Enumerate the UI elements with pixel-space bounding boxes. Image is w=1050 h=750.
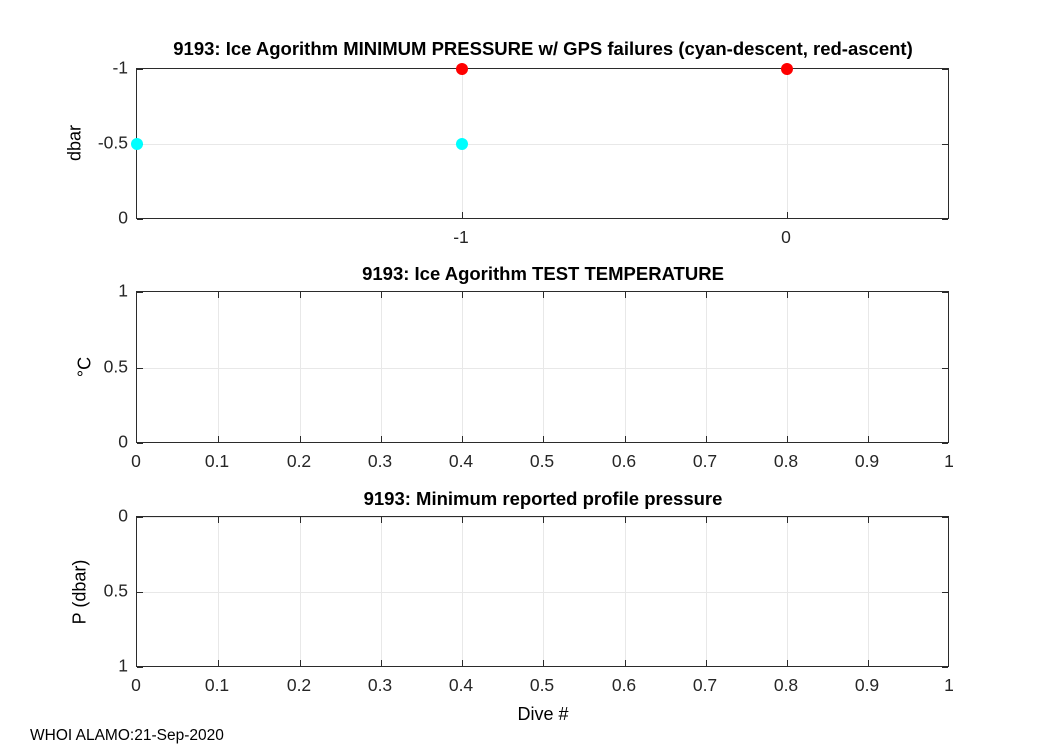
footer-note: WHOI ALAMO:21-Sep-2020 — [30, 727, 224, 745]
subplot-2-ytick-label: 0 — [93, 432, 128, 453]
x-tick-mark — [706, 436, 707, 442]
x-tick-mark — [218, 292, 219, 298]
x-tick-mark — [381, 517, 382, 523]
x-tick-mark — [787, 517, 788, 523]
figure-canvas: 9193: Ice Agorithm MINIMUM PRESSURE w/ G… — [0, 0, 1050, 750]
grid-line-horizontal — [137, 144, 948, 145]
grid-line-vertical — [868, 517, 869, 666]
grid-line-vertical — [543, 292, 544, 442]
figure-xlabel: Dive # — [517, 704, 568, 725]
subplot-2-xtick-label: 0.8 — [774, 451, 798, 472]
y-tick-mark — [137, 219, 143, 220]
y-tick-mark — [942, 144, 948, 145]
x-tick-mark — [787, 212, 788, 218]
x-tick-mark — [218, 436, 219, 442]
y-tick-mark — [137, 517, 143, 518]
x-tick-mark — [462, 517, 463, 523]
subplot-2-ytick-label: 0.5 — [93, 357, 128, 378]
subplot-2-xtick-label: 0 — [131, 451, 141, 472]
subplot-2-title: 9193: Ice Agorithm TEST TEMPERATURE — [362, 263, 724, 285]
x-tick-mark — [462, 212, 463, 218]
x-tick-mark — [706, 517, 707, 523]
x-tick-mark — [381, 436, 382, 442]
subplot-2-xtick-label: 0.1 — [205, 451, 229, 472]
grid-line-vertical — [706, 292, 707, 442]
subplot-3-plot-area — [136, 516, 949, 667]
y-tick-mark — [942, 592, 948, 593]
x-tick-mark — [787, 292, 788, 298]
x-tick-mark — [543, 517, 544, 523]
grid-line-vertical — [787, 69, 788, 218]
subplot-3-xtick-label: 0.7 — [693, 675, 717, 696]
x-tick-mark — [868, 517, 869, 523]
subplot-2-xtick-label: 0.5 — [530, 451, 554, 472]
y-tick-mark — [137, 443, 143, 444]
x-tick-mark — [706, 660, 707, 666]
x-tick-mark — [218, 517, 219, 523]
data-point-descent — [456, 138, 468, 150]
subplot-2-ytick-label: 1 — [93, 281, 128, 302]
subplot-2-xtick-label: 0.7 — [693, 451, 717, 472]
subplot-3-xtick-label: 0.3 — [368, 675, 392, 696]
x-tick-mark — [868, 660, 869, 666]
subplot-3-xtick-label: 0.4 — [449, 675, 473, 696]
x-tick-mark — [787, 660, 788, 666]
x-tick-mark — [543, 292, 544, 298]
x-tick-mark — [381, 660, 382, 666]
data-point-ascent — [456, 63, 468, 75]
subplot-3-minimum-reported-profile-pressure — [136, 516, 949, 667]
data-point-descent — [131, 138, 143, 150]
y-tick-mark — [137, 592, 143, 593]
x-tick-mark — [300, 660, 301, 666]
subplot-2-plot-area — [136, 291, 949, 443]
x-tick-mark — [625, 292, 626, 298]
x-tick-mark — [625, 436, 626, 442]
subplot-3-xtick-label: 0.2 — [287, 675, 311, 696]
grid-line-vertical — [625, 292, 626, 442]
x-tick-mark — [300, 517, 301, 523]
x-tick-mark — [868, 436, 869, 442]
x-tick-mark — [300, 436, 301, 442]
x-tick-mark — [543, 436, 544, 442]
subplot-1-ytick-label: -0.5 — [83, 133, 128, 154]
x-tick-mark — [625, 517, 626, 523]
subplot-3-ytick-label: 0.5 — [93, 581, 128, 602]
y-tick-mark — [137, 667, 143, 668]
y-tick-mark — [942, 368, 948, 369]
subplot-3-ytick-label: 1 — [93, 656, 128, 677]
x-tick-mark — [300, 292, 301, 298]
subplot-2-xtick-label: 0.6 — [612, 451, 636, 472]
x-tick-mark — [543, 660, 544, 666]
subplot-2-xtick-label: 1 — [944, 451, 954, 472]
subplot-2-xtick-label: 0.4 — [449, 451, 473, 472]
y-tick-mark — [942, 667, 948, 668]
subplot-1-ytick-label: 0 — [83, 208, 128, 229]
x-tick-mark — [462, 660, 463, 666]
grid-line-vertical — [787, 517, 788, 666]
subplot-3-xtick-label: 0.6 — [612, 675, 636, 696]
x-tick-mark — [625, 660, 626, 666]
grid-line-vertical — [706, 517, 707, 666]
subplot-3-xtick-label: 0 — [131, 675, 141, 696]
grid-line-vertical — [300, 292, 301, 442]
y-tick-mark — [137, 69, 143, 70]
x-tick-mark — [787, 436, 788, 442]
grid-line-vertical — [868, 292, 869, 442]
subplot-3-xtick-label: 1 — [944, 675, 954, 696]
grid-line-vertical — [218, 517, 219, 666]
subplot-1-xtick-label: -1 — [453, 227, 469, 248]
y-tick-mark — [942, 292, 948, 293]
subplot-1-xtick-label: 0 — [781, 227, 791, 248]
x-tick-mark — [868, 292, 869, 298]
x-tick-mark — [218, 660, 219, 666]
y-tick-mark — [942, 69, 948, 70]
subplot-3-xtick-label: 0.9 — [855, 675, 879, 696]
grid-line-vertical — [300, 517, 301, 666]
grid-line-vertical — [381, 517, 382, 666]
subplot-3-title: 9193: Minimum reported profile pressure — [364, 488, 723, 510]
subplot-1-title: 9193: Ice Agorithm MINIMUM PRESSURE w/ G… — [173, 38, 913, 60]
subplot-2-test-temperature — [136, 291, 949, 443]
x-tick-mark — [462, 292, 463, 298]
y-tick-mark — [942, 517, 948, 518]
x-tick-mark — [462, 436, 463, 442]
subplot-3-ylabel: P (dbar) — [70, 560, 91, 625]
subplot-2-xtick-label: 0.3 — [368, 451, 392, 472]
subplot-3-xtick-label: 0.5 — [530, 675, 554, 696]
grid-line-vertical — [787, 292, 788, 442]
y-tick-mark — [137, 368, 143, 369]
subplot-3-ytick-label: 0 — [93, 506, 128, 527]
subplot-1-minimum-pressure — [136, 68, 949, 219]
subplot-1-plot-area — [136, 68, 949, 219]
x-tick-mark — [706, 292, 707, 298]
y-tick-mark — [137, 292, 143, 293]
grid-line-vertical — [381, 292, 382, 442]
grid-line-vertical — [462, 517, 463, 666]
grid-line-vertical — [543, 517, 544, 666]
x-tick-mark — [381, 292, 382, 298]
grid-line-vertical — [462, 292, 463, 442]
subplot-2-xtick-label: 0.9 — [855, 451, 879, 472]
y-tick-mark — [942, 443, 948, 444]
subplot-3-xtick-label: 0.8 — [774, 675, 798, 696]
subplot-2-xtick-label: 0.2 — [287, 451, 311, 472]
data-point-ascent — [781, 63, 793, 75]
subplot-1-ytick-label: -1 — [83, 58, 128, 79]
grid-line-vertical — [625, 517, 626, 666]
subplot-3-xtick-label: 0.1 — [205, 675, 229, 696]
grid-line-vertical — [218, 292, 219, 442]
y-tick-mark — [942, 219, 948, 220]
